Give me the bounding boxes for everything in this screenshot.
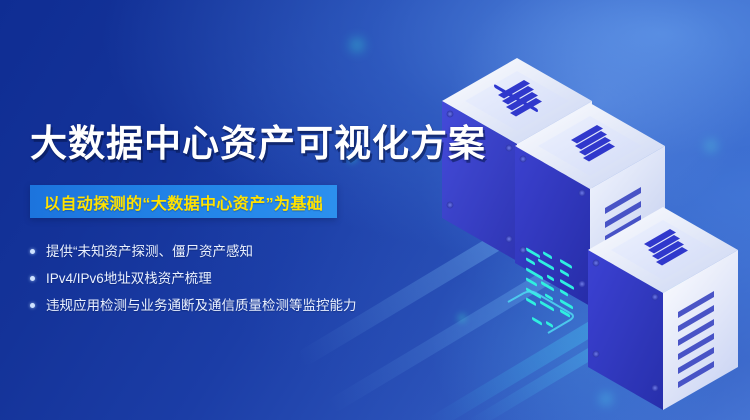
bullet-label: 违规应用检测与业务通断及通信质量检测等监控能力 [46, 298, 357, 314]
list-item: 违规应用检测与业务通断及通信质量检测等监控能力 [30, 292, 450, 319]
bullet-dot-icon [30, 249, 35, 254]
bullet-label: 提供“未知资产探测、僵尸资产感知 [46, 244, 253, 260]
subtitle-badge: 以自动探测的“大数据中心资产”为基础 [30, 185, 337, 218]
server-rack-3 [588, 207, 738, 410]
list-item: IPv4/IPv6地址双栈资产梳理 [30, 265, 450, 292]
page-title: 大数据中心资产可视化方案 [30, 122, 486, 166]
subtitle-text: 以自动探测的“大数据中心资产”为基础 [44, 190, 323, 214]
feature-bullet-list: 提供“未知资产探测、僵尸资产感知IPv4/IPv6地址双栈资产梳理违规应用检测与… [30, 238, 450, 319]
list-item: 提供“未知资产探测、僵尸资产感知 [30, 238, 450, 265]
text-content: 大数据中心资产可视化方案 以自动探测的“大数据中心资产”为基础 提供“未知资产探… [0, 0, 470, 420]
bullet-label: IPv4/IPv6地址双栈资产梳理 [46, 271, 212, 287]
marketing-banner: 大数据中心资产可视化方案 以自动探测的“大数据中心资产”为基础 提供“未知资产探… [0, 0, 750, 420]
bullet-dot-icon [30, 276, 35, 281]
bullet-dot-icon [30, 303, 35, 308]
